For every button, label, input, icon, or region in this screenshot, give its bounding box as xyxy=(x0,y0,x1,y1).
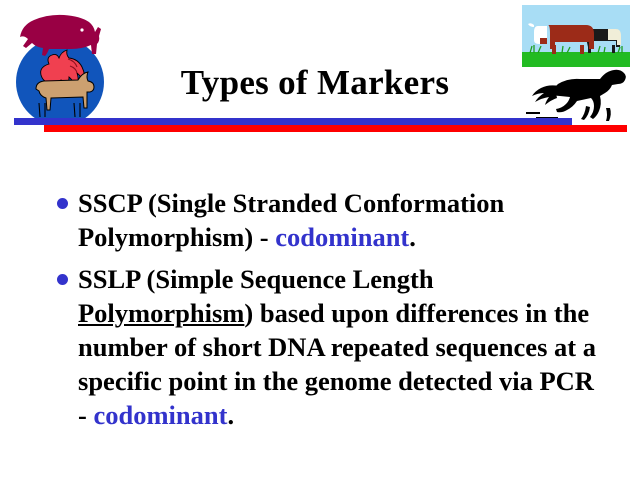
divider-bar-blue xyxy=(14,118,572,125)
bullet-dot-icon xyxy=(57,274,68,285)
divider-bar-red xyxy=(44,125,627,132)
grass xyxy=(522,52,630,67)
cattle-photo xyxy=(522,5,630,67)
list-item: SSLP (Simple Sequence Length Polymorphis… xyxy=(52,262,600,432)
page-title: Types of Markers xyxy=(110,62,520,104)
bullet-text-lead: SSLP (Simple Sequence Length xyxy=(78,264,434,294)
slide: Types of Markers xyxy=(0,0,640,480)
bullet-text-accent: codominant xyxy=(275,222,409,252)
slide-body: SSCP (Single Stranded Conformation Polym… xyxy=(52,186,600,432)
bullet-dot-icon xyxy=(57,198,68,209)
horse-silhouette xyxy=(532,70,626,121)
bullet-text-underlined: Polymorphism xyxy=(78,298,244,328)
bullet-text-tail: . xyxy=(227,400,234,430)
livestock-logo xyxy=(8,4,112,126)
slide-header: Types of Markers xyxy=(0,0,640,140)
bullet-text-accent: codominant xyxy=(93,400,227,430)
bullet-list: SSCP (Single Stranded Conformation Polym… xyxy=(52,186,600,432)
bullet-text-tail: . xyxy=(409,222,416,252)
list-item: SSCP (Single Stranded Conformation Polym… xyxy=(52,186,600,254)
